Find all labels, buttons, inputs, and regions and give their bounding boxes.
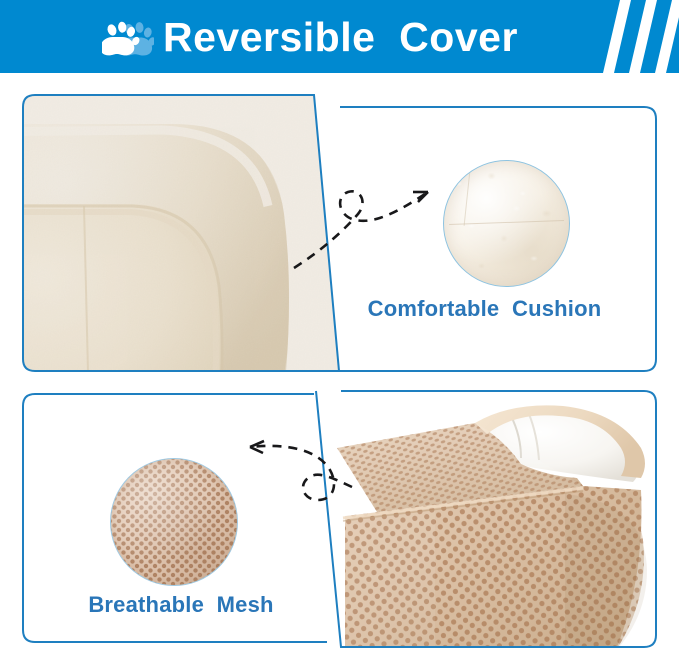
fleece-bed-photo bbox=[22, 94, 340, 372]
fleece-photo-panel bbox=[22, 94, 340, 372]
fleece-photo-clip bbox=[22, 94, 340, 372]
breathable-mesh-swatch bbox=[110, 458, 238, 586]
mesh-photo-clip bbox=[315, 390, 657, 648]
mesh-shading bbox=[111, 459, 237, 585]
comfortable-cushion-swatch bbox=[443, 160, 570, 287]
diagonal-stripes-icon bbox=[589, 0, 679, 73]
page-title: Reversible Cover bbox=[163, 7, 518, 67]
header-banner: Reversible Cover bbox=[0, 0, 679, 73]
paw-print-icon bbox=[102, 20, 154, 60]
mesh-bed-photo bbox=[315, 390, 657, 648]
breathable-mesh-label: Breathable Mesh bbox=[22, 592, 340, 618]
mesh-photo-panel bbox=[315, 390, 657, 648]
comfortable-cushion-label: Comfortable Cushion bbox=[312, 296, 657, 322]
